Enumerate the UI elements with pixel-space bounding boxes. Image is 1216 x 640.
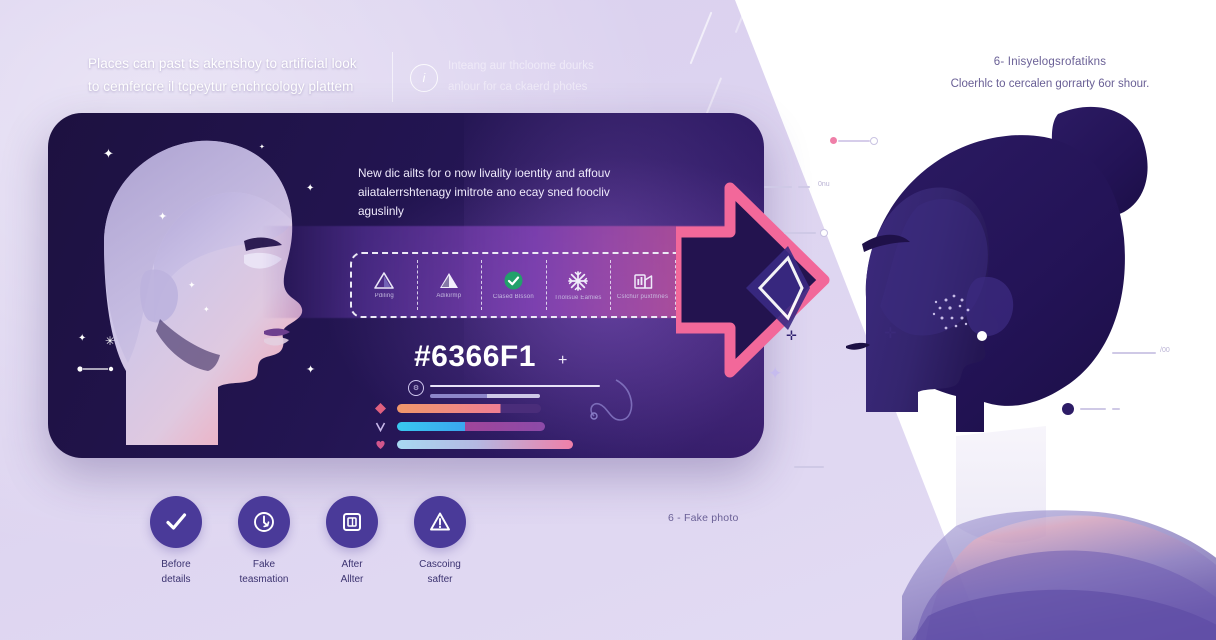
square-box-icon [339,509,365,535]
progress-bar-track [397,404,541,413]
marker-line [838,140,870,142]
marker-label-a: 0nu [818,181,830,188]
silhouette-profile-dark [806,96,1216,640]
marker-dot-hollow [870,137,878,145]
loop-squiggle-icon [586,376,638,437]
progress-bar-row[interactable] [375,439,615,450]
header-right-line1: 6- Inisyelogsrofatikns [900,52,1200,74]
bottom-icon-label-0: Before details [132,558,220,587]
info-circle-icon: i [410,64,438,92]
diamond-outline-decoration [742,238,812,343]
snowflake-icon [567,270,589,292]
gear-icon: ⚙ [408,380,424,396]
marker-label-b: /00 [1160,347,1170,354]
feature-item-2[interactable]: Clased Blsson [481,254,546,316]
header-right-text: 6- Inisyelogsrofatikns Cloerhlc to cerca… [900,52,1200,96]
hex-plus-label: + [558,352,567,370]
progress-bars [375,403,615,457]
marker-line [798,186,810,188]
hex-color-value: #6366F1 [414,340,536,374]
illustration-canvas: Places can past ts akenshoy to artificia… [0,0,1216,640]
header-mid-line1: Inteang aur thcloome dourks [448,56,628,77]
panel-body-line2: aiiatalerrshtenagy imitrote ano ecay sne… [358,183,658,202]
feature-label-4: Cslchur puxtmnes [617,294,668,300]
feature-item-4[interactable]: Cslchur puxtmnes [610,254,675,316]
header-mid-text: Inteang aur thcloome dourks anlour for c… [448,56,628,97]
bottom-icon-item-2[interactable]: After Allter [308,496,396,587]
marker-line [1112,352,1156,354]
bottom-icon-label-1: Fake teasmation [220,558,308,587]
progress-bar-row[interactable] [375,403,615,414]
marker-line [794,466,824,468]
progress-bar-row[interactable] [375,421,615,432]
marker-dot-navy [1062,403,1074,415]
fake-photo-caption: 6 - Fake photo [668,512,739,524]
progress-bar-track [397,440,573,449]
header-divider [392,52,393,102]
warning-triangle-icon [427,509,453,535]
feature-item-3[interactable]: Tnolisue Eamies [546,254,611,316]
feature-label-2: Clased Blsson [493,294,534,300]
plus-decoration-icon: ✛ [884,324,897,342]
sparkle-icon: ✦ [768,364,782,384]
heart-icon [375,439,386,450]
circle-badge [238,496,290,548]
v-icon [375,421,386,432]
marker-line [784,232,816,234]
warning-filled-icon [438,271,460,290]
marker-line [1112,408,1120,410]
diamond-icon [375,403,386,414]
feature-label-0: Pdiling [375,293,394,299]
check-circle-icon [503,270,524,291]
bottom-icon-item-3[interactable]: Cascoing safter [396,496,484,587]
bottom-icon-item-1[interactable]: Fake teasmation [220,496,308,587]
bottom-icon-label-2: After Allter [308,558,396,587]
bar-chart-icon [632,271,654,291]
marker-dot-hollow [820,229,828,237]
feature-item-1[interactable]: Adikirmp [417,254,482,316]
panel-body-line3: aguslinly [358,202,658,221]
marker-line [1080,408,1106,410]
marker-line [764,186,792,188]
header-left-line2: to cemfercre il tcpeytur enchrcology pla… [88,75,388,98]
header-left-text: Places can past ts akenshoy to artificia… [88,52,388,98]
feature-panel: ✦ ✦ ✦ ✦ ✦ ✦ ✦ ✦ ✳ New dic ailts for o no… [48,113,764,458]
triangle-outline-icon [373,271,395,290]
panel-body-line1: New dic ailts for o now livality ioentit… [358,164,658,183]
mini-line-2 [430,394,540,398]
bottom-icon-label-3: Cascoing safter [396,558,484,587]
feature-item-0[interactable]: Pdiling [352,254,417,316]
panel-body-text: New dic ailts for o now livality ioentit… [358,164,658,221]
header-right-line2: Cloerhlc to cercalen gorrarty 6or shour. [900,74,1200,96]
header-mid-line2: anlour for ca ckaerd photes [448,77,628,98]
clock-down-icon [251,509,277,535]
check-icon [163,509,189,535]
marker-dot-pink [830,137,837,144]
circle-badge [326,496,378,548]
header-left-line1: Places can past ts akenshoy to artificia… [88,52,388,75]
feature-label-3: Tnolisue Eamies [554,295,601,301]
circle-badge [414,496,466,548]
bottom-icon-item-0[interactable]: Before details [132,496,220,587]
progress-bar-track [397,422,545,431]
bottom-icon-row: Before details Fake teasmation [132,496,484,616]
circle-badge [150,496,202,548]
mini-line-1 [430,385,600,387]
feature-label-1: Adikirmp [436,293,461,299]
